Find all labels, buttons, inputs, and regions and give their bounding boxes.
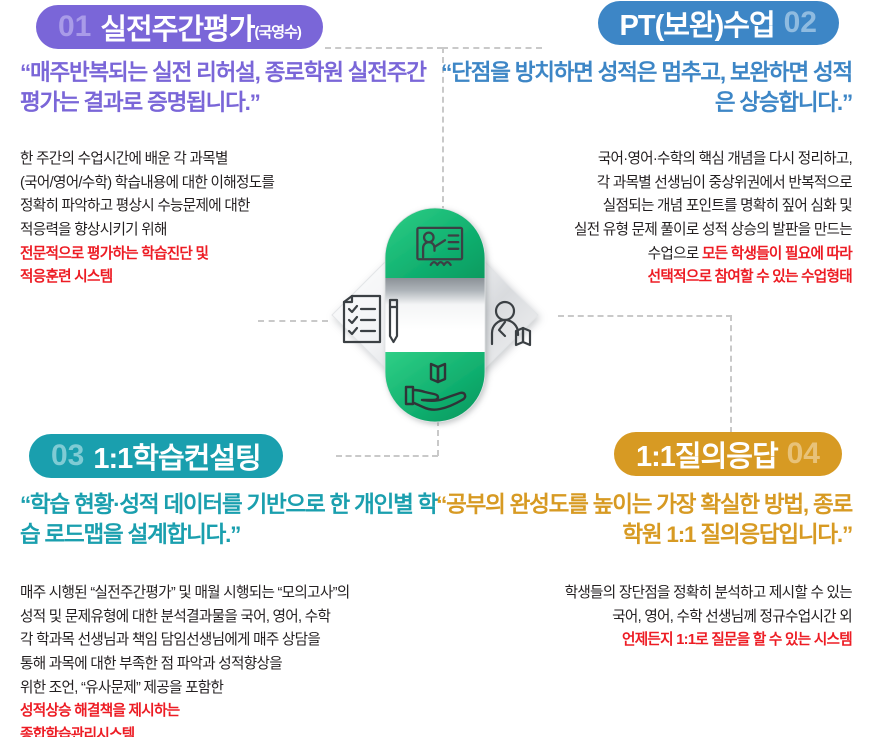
capsule-shape xyxy=(385,208,485,422)
section-body-03: 매주 시행된 “실전주간평가” 및 매월 시행되는 “모의고사”의성적 및 문제… xyxy=(20,582,440,737)
section-quote-04: “공부의 완성도를 높이는 가장 확실한 방법, 종로학원 1:1 질의응답입니… xyxy=(432,490,852,549)
body-line: 위한 조언, “유사문제” 제공을 포함한 xyxy=(20,677,440,701)
body-line-highlight: 모든 학생들이 필요에 따라 xyxy=(702,246,852,262)
section-number-04: 04 xyxy=(787,437,820,471)
section-badge-04[interactable]: 1:1질의응답 04 xyxy=(614,432,842,476)
body-line: 국어, 영어, 수학 선생님께 정규수업시간 외 xyxy=(477,606,852,630)
connector-04-horizontal xyxy=(558,315,732,317)
body-line: 국어·영어·수학의 핵심 개념을 다시 정리하고, xyxy=(502,148,852,172)
body-line: 종합학습관리시스템 xyxy=(20,724,440,737)
section-badge-01[interactable]: 01 실전주간평가 (국영수) xyxy=(36,5,323,49)
connector-left-stub xyxy=(258,320,328,322)
connector-01-horizontal xyxy=(325,47,443,49)
body-line: (국어/영어/수학) 학습내용에 대한 이해정도를 xyxy=(20,172,350,196)
section-number-01: 01 xyxy=(58,10,91,44)
section-title-03: 1:1학습컨설팅 xyxy=(93,435,260,477)
body-line: 성적상승 해결책을 제시하는 xyxy=(20,700,440,724)
connector-03-horizontal xyxy=(336,455,438,457)
section-quote-02: “단점을 방치하면 성적은 멈추고, 보완하면 성적은 상승합니다.” xyxy=(432,58,852,117)
section-subtitle-01: (국영수) xyxy=(254,21,300,49)
body-line: 통해 과목에 대한 부족한 점 파악과 성적향상을 xyxy=(20,653,440,677)
section-quote-03: “학습 현황·성적 데이터를 기반으로 한 개인별 학습 로드맵을 설계합니다.… xyxy=(20,490,450,549)
section-title-01: 실전주간평가 xyxy=(100,6,254,48)
body-line: 실전 유형 문제 풀이로 성적 상승의 발판을 만드는 xyxy=(502,219,852,243)
connector-02-horizontal xyxy=(442,47,542,49)
connector-04-vertical xyxy=(730,315,732,433)
section-badge-03[interactable]: 03 1:1학습컨설팅 xyxy=(29,434,283,478)
section-body-01: 한 주간의 수업시간에 배운 각 과목별(국어/영어/수학) 학습내용에 대한 … xyxy=(20,148,350,290)
body-line: 적응훈련 시스템 xyxy=(20,266,350,290)
body-line: 각 학과목 선생님과 책임 담임선생님에게 매주 상담을 xyxy=(20,629,440,653)
section-badge-02[interactable]: PT(보완)수업 02 xyxy=(598,1,839,45)
body-line: 한 주간의 수업시간에 배운 각 과목별 xyxy=(20,148,350,172)
body-line: 실점되는 개념 포인트를 명확히 짚어 심화 및 xyxy=(502,195,852,219)
body-line: 매주 시행된 “실전주간평가” 및 매월 시행되는 “모의고사”의 xyxy=(20,582,440,606)
body-line: 언제든지 1:1로 질문을 할 수 있는 시스템 xyxy=(477,629,852,653)
body-line: 선택적으로 참여할 수 있는 수업형태 xyxy=(502,266,852,290)
section-body-04: 학생들의 장단점을 정확히 분석하고 제시할 수 있는국어, 영어, 수학 선생… xyxy=(477,582,852,653)
section-title-02: PT(보완)수업 xyxy=(620,2,775,44)
section-number-02: 02 xyxy=(784,6,817,40)
body-line: 학생들의 장단점을 정확히 분석하고 제시할 수 있는 xyxy=(477,582,852,606)
infographic-canvas: 01 실전주간평가 (국영수) “매주반복되는 실전 리허설, 종로학원 실전주… xyxy=(0,0,870,737)
body-line-plain: 수업으로 xyxy=(648,246,702,262)
body-line: 각 과목별 선생님이 중상위권에서 반복적으로 xyxy=(502,172,852,196)
body-line: 전문적으로 평가하는 학습진단 및 xyxy=(20,243,350,267)
body-line: 정확히 파악하고 평상시 수능문제에 대한 xyxy=(20,195,350,219)
body-line: 성적 및 문제유형에 대한 분석결과물을 국어, 영어, 수학 xyxy=(20,606,440,630)
section-title-04: 1:1질의응답 xyxy=(636,433,778,475)
body-line: 수업으로 모든 학생들이 필요에 따라 xyxy=(502,243,852,267)
body-line: 적응력을 향상시키기 위해 xyxy=(20,219,350,243)
section-body-02: 국어·영어·수학의 핵심 개념을 다시 정리하고,각 과목별 선생님이 중상위권… xyxy=(502,148,852,290)
section-number-03: 03 xyxy=(51,439,84,473)
section-quote-01: “매주반복되는 실전 리허설, 종로학원 실전주간평가는 결과로 증명됩니다.” xyxy=(20,58,440,117)
